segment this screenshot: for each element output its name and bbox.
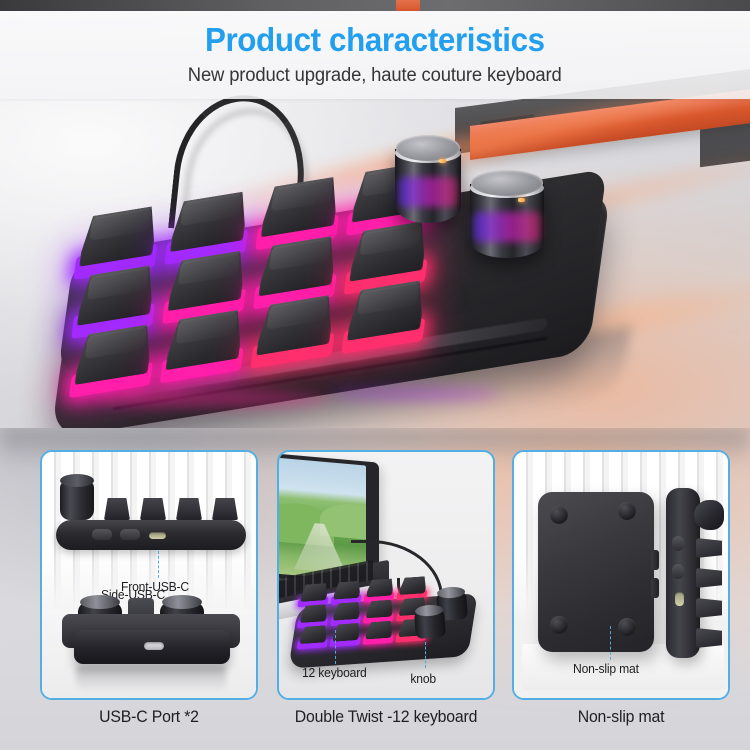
knob-label: knob (410, 672, 436, 686)
keycap-small[interactable] (399, 576, 428, 598)
keypad-knob-front-small[interactable] (414, 609, 446, 639)
front-view-keycap (176, 498, 202, 520)
front-view-keycap (140, 498, 166, 520)
front-usb-c-port (149, 532, 166, 539)
bottom-side-nub (651, 578, 659, 598)
keycap[interactable] (255, 294, 336, 364)
profile-keycap (696, 628, 722, 648)
keycap-small[interactable] (299, 625, 328, 647)
keycap[interactable] (348, 220, 429, 290)
keycap-small[interactable] (366, 578, 395, 600)
keycap[interactable] (169, 191, 250, 261)
profile-keycap (696, 568, 722, 588)
non-slip-mat-label: Non-slip mat (573, 662, 639, 676)
keycap-small[interactable] (300, 583, 329, 605)
front-side-button (120, 529, 140, 540)
knob-rgb-glow (399, 177, 457, 207)
panel-caption-non-slip-mat: Non-slip mat (516, 708, 725, 734)
keycap-small[interactable] (332, 602, 361, 624)
keycap-surface-small (300, 604, 329, 623)
front-view-keycap (104, 498, 130, 520)
keycap-surface-small (365, 620, 394, 639)
side-usb-c-port (144, 642, 164, 650)
feature-panels-section: Front-USB-C Side-USB-C USB-C Port *2 (0, 428, 750, 750)
keypad-bottom-view (538, 492, 654, 652)
profile-knob (694, 500, 724, 530)
keycap-surface-small (299, 625, 328, 644)
profile-keycap (696, 598, 722, 618)
panel-double-twist-keyboard[interactable]: 12 keyboard knob (277, 450, 495, 700)
top-dark-strip (0, 0, 750, 11)
page-title: Product characteristics (205, 23, 545, 58)
keycap[interactable] (260, 176, 341, 246)
front-usb-c-leader-line (158, 551, 159, 578)
keycap-small[interactable] (365, 599, 394, 621)
bottom-side-nub (651, 550, 659, 570)
keypad-front-edge (56, 520, 246, 550)
knob-highlight (518, 198, 525, 202)
non-slip-foot (618, 502, 636, 520)
keycap-surface-small (366, 599, 395, 618)
front-side-button (92, 529, 112, 540)
keycap[interactable] (73, 323, 154, 393)
page-subtitle: New product upgrade, haute couture keybo… (188, 65, 562, 87)
keycap[interactable] (164, 309, 245, 379)
keycap[interactable] (78, 205, 159, 275)
keycap-surface-small (333, 581, 362, 600)
knob-leader-line (425, 642, 426, 668)
side-view-reflection (76, 666, 226, 692)
keycap-small[interactable] (332, 623, 361, 645)
panel-caption-double-twist: Double Twist -12 keyboard (281, 708, 490, 734)
non-slip-foot (618, 618, 636, 636)
knob-rgb-glow (474, 212, 539, 242)
rotary-knob-front[interactable] (470, 170, 544, 270)
keycap-surface-small (366, 578, 395, 597)
panel-caption-usb-c: USB-C Port *2 (44, 708, 253, 734)
non-slip-foot (550, 616, 568, 634)
panel-usb-c-ports[interactable]: Front-USB-C Side-USB-C (40, 450, 258, 700)
rgb-desk-glow (330, 388, 500, 400)
top-orange-post (396, 0, 420, 11)
knob-brushed-top (396, 135, 459, 161)
non-slip-foot (550, 506, 568, 524)
knob-brushed-top (471, 170, 542, 196)
keypad-side-edge (74, 630, 230, 664)
profile-usb-c-port (675, 592, 684, 606)
front-view-knob (60, 480, 94, 520)
profile-button (672, 564, 684, 579)
panel-non-slip-mat[interactable]: Non-slip mat (512, 450, 730, 700)
keycap[interactable] (166, 250, 247, 320)
profile-button (672, 536, 684, 551)
keycap-small[interactable] (333, 581, 362, 603)
profile-keycap (696, 538, 722, 558)
keycap[interactable] (76, 264, 157, 334)
keycap-surface-small (399, 576, 428, 595)
front-view-keycap (212, 498, 238, 520)
keycap-small[interactable] (299, 604, 328, 626)
product-feature-page: Product characteristics New product upgr… (0, 0, 750, 750)
rotary-knob-rear[interactable] (395, 135, 461, 227)
keycap-surface-small (332, 623, 361, 642)
rgb-desk-glow (100, 392, 330, 406)
page-header: Product characteristics New product upgr… (0, 11, 750, 99)
twelve-keyboard-leader-line (335, 630, 336, 664)
knob-highlight (439, 159, 446, 163)
twelve-keyboard-label: 12 keyboard (302, 666, 367, 680)
keycap[interactable] (346, 279, 427, 349)
keycap-surface-small (333, 602, 362, 621)
keycap-small[interactable] (365, 620, 394, 642)
keycap-surface-small (300, 583, 329, 602)
keycap[interactable] (257, 235, 338, 305)
non-slip-mat-leader-line (610, 626, 611, 660)
